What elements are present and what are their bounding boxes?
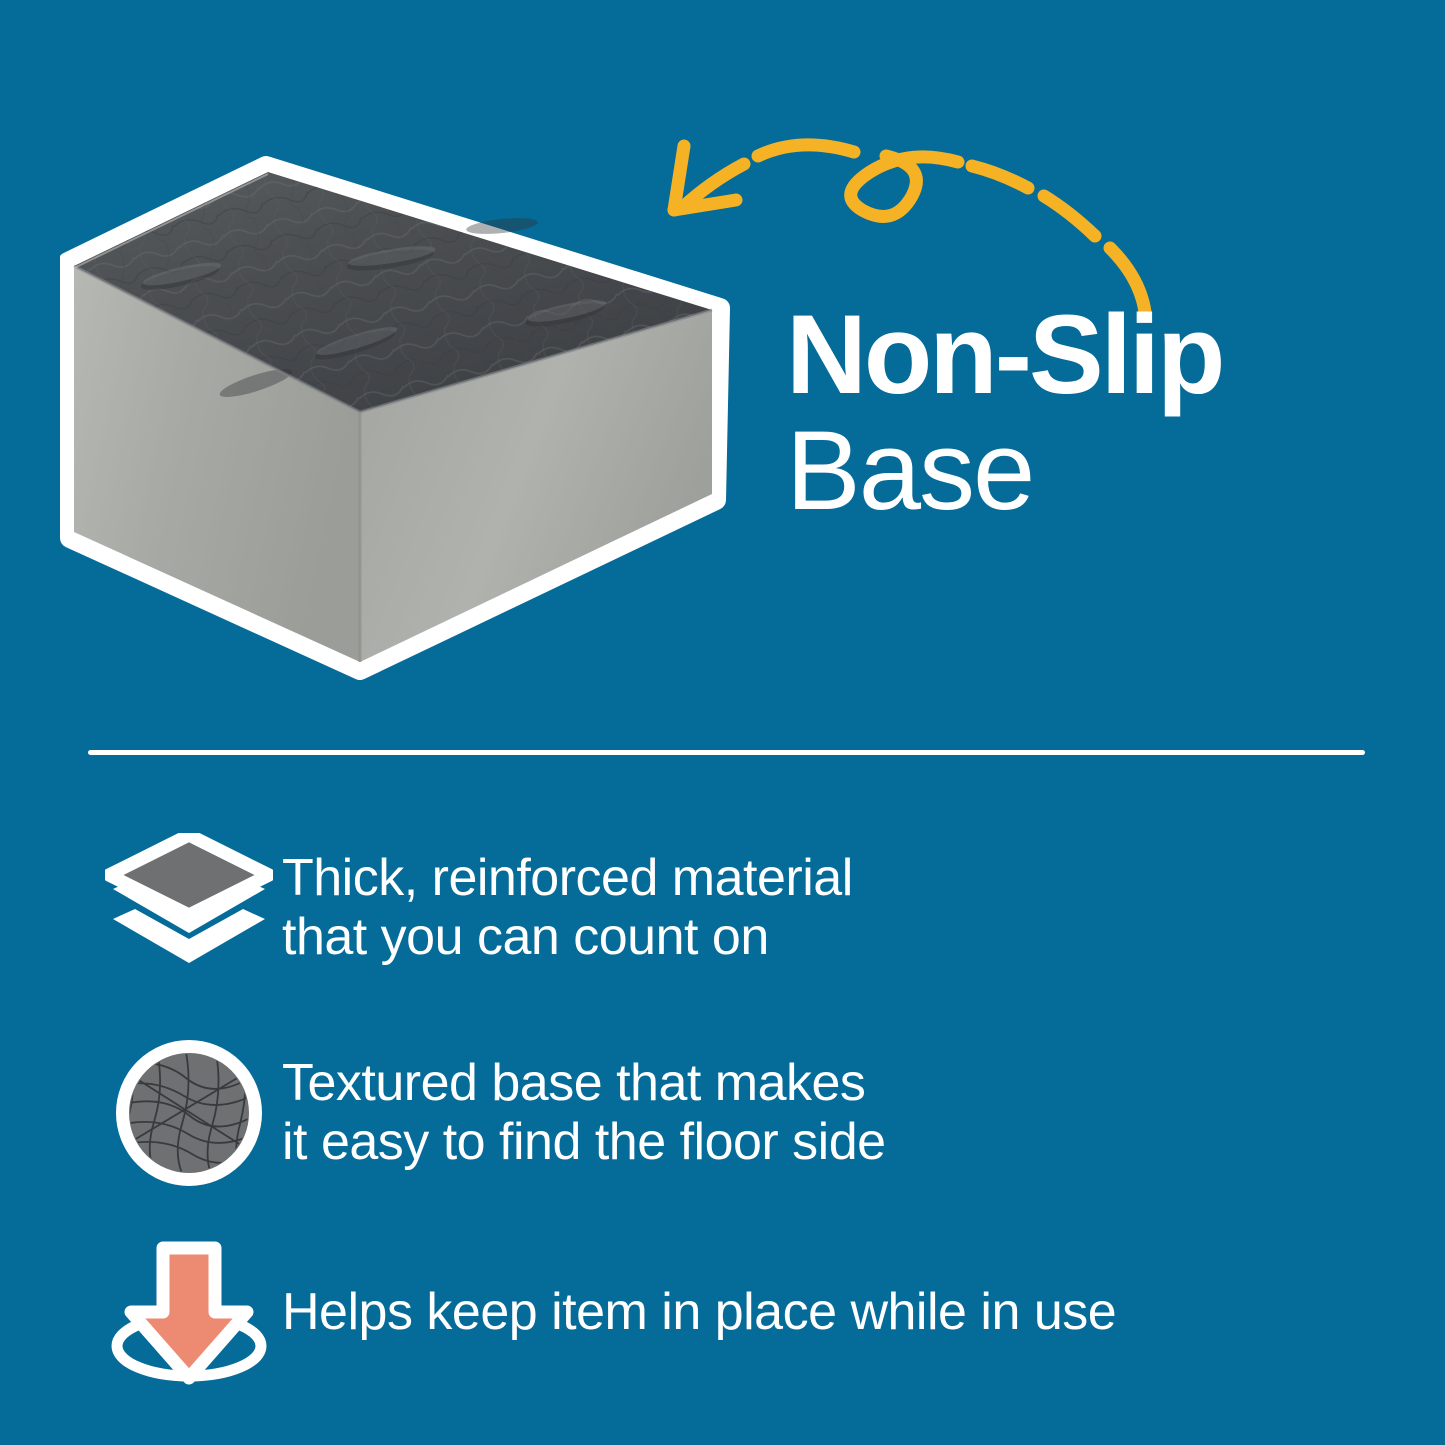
feature-item-textured-base: Textured base that makes it easy to find… [96, 1025, 1386, 1200]
infographic-canvas: Non-Slip Base Thick, reinforced material… [0, 0, 1445, 1445]
section-divider [88, 750, 1365, 755]
page-title: Non-Slip Base [786, 300, 1406, 526]
feature-label: Thick, reinforced material that you can … [282, 849, 853, 965]
layers-top-diamond [109, 835, 269, 915]
callout-arrow [640, 100, 1160, 320]
layers-icon [96, 828, 282, 988]
textured-circle-icon [96, 1033, 282, 1193]
headline-line-1: Non-Slip [786, 300, 1406, 410]
headline-line-2: Base [786, 416, 1406, 526]
feature-label: Textured base that makes it easy to find… [282, 1054, 886, 1170]
arrow-down-into-ellipse-icon [96, 1233, 282, 1393]
feature-item-material: Thick, reinforced material that you can … [96, 820, 1386, 995]
feature-item-keeps-in-place: Helps keep item in place while in use [96, 1225, 1386, 1400]
hero-section: Non-Slip Base [0, 0, 1445, 720]
feature-label: Helps keep item in place while in use [282, 1283, 1116, 1341]
down-arrow [131, 1248, 247, 1378]
callout-arrow-stroke [674, 145, 1145, 312]
